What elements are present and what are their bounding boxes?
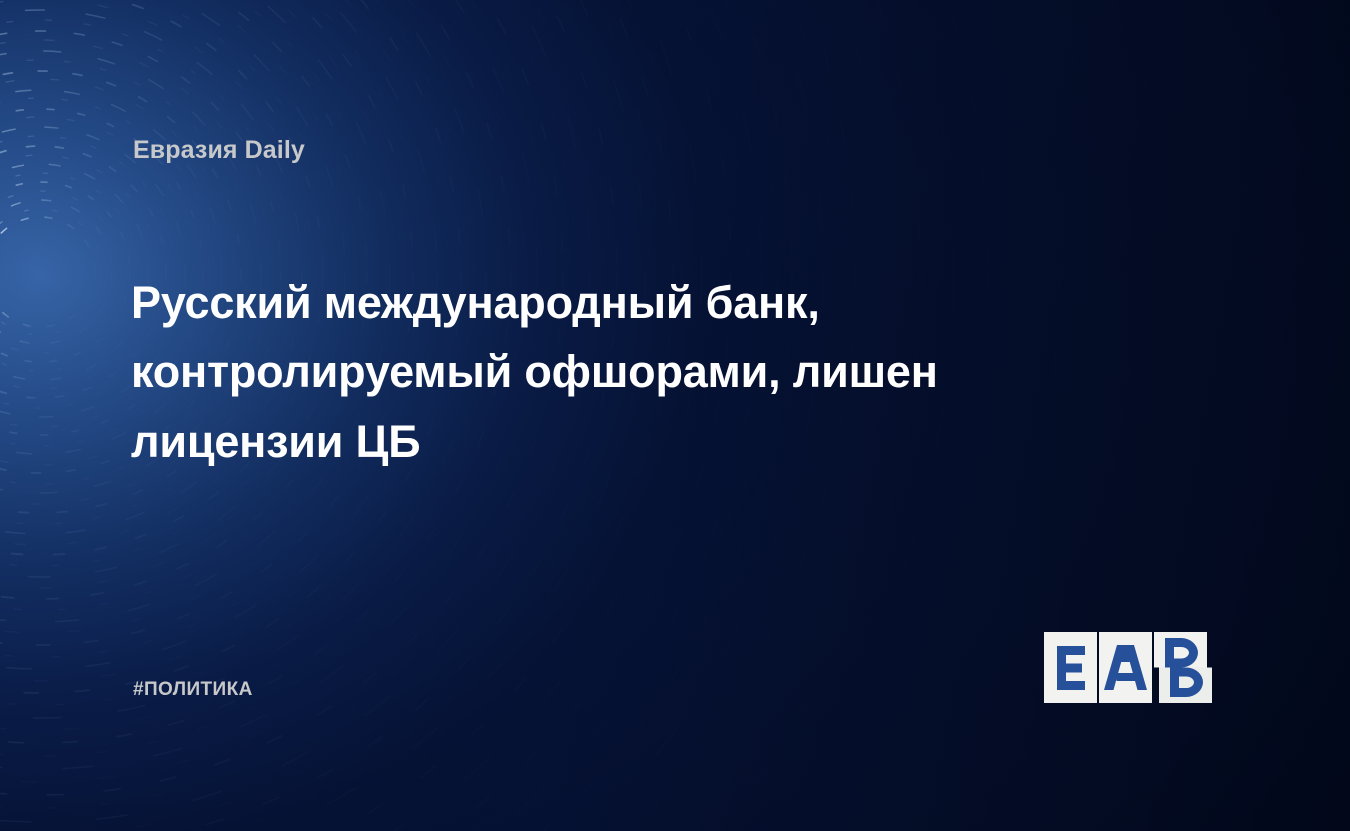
page-title: Русский международный банк, контролируем… — [131, 268, 1131, 476]
brand-title: Евразия Daily — [133, 136, 305, 165]
card-content: Евразия Daily Русский международный банк… — [0, 0, 1350, 831]
category-tag[interactable]: #ПОЛИТИКА — [133, 679, 253, 701]
ead-logo[interactable] — [1044, 632, 1222, 703]
share-card: Евразия Daily Русский международный банк… — [0, 0, 1350, 831]
